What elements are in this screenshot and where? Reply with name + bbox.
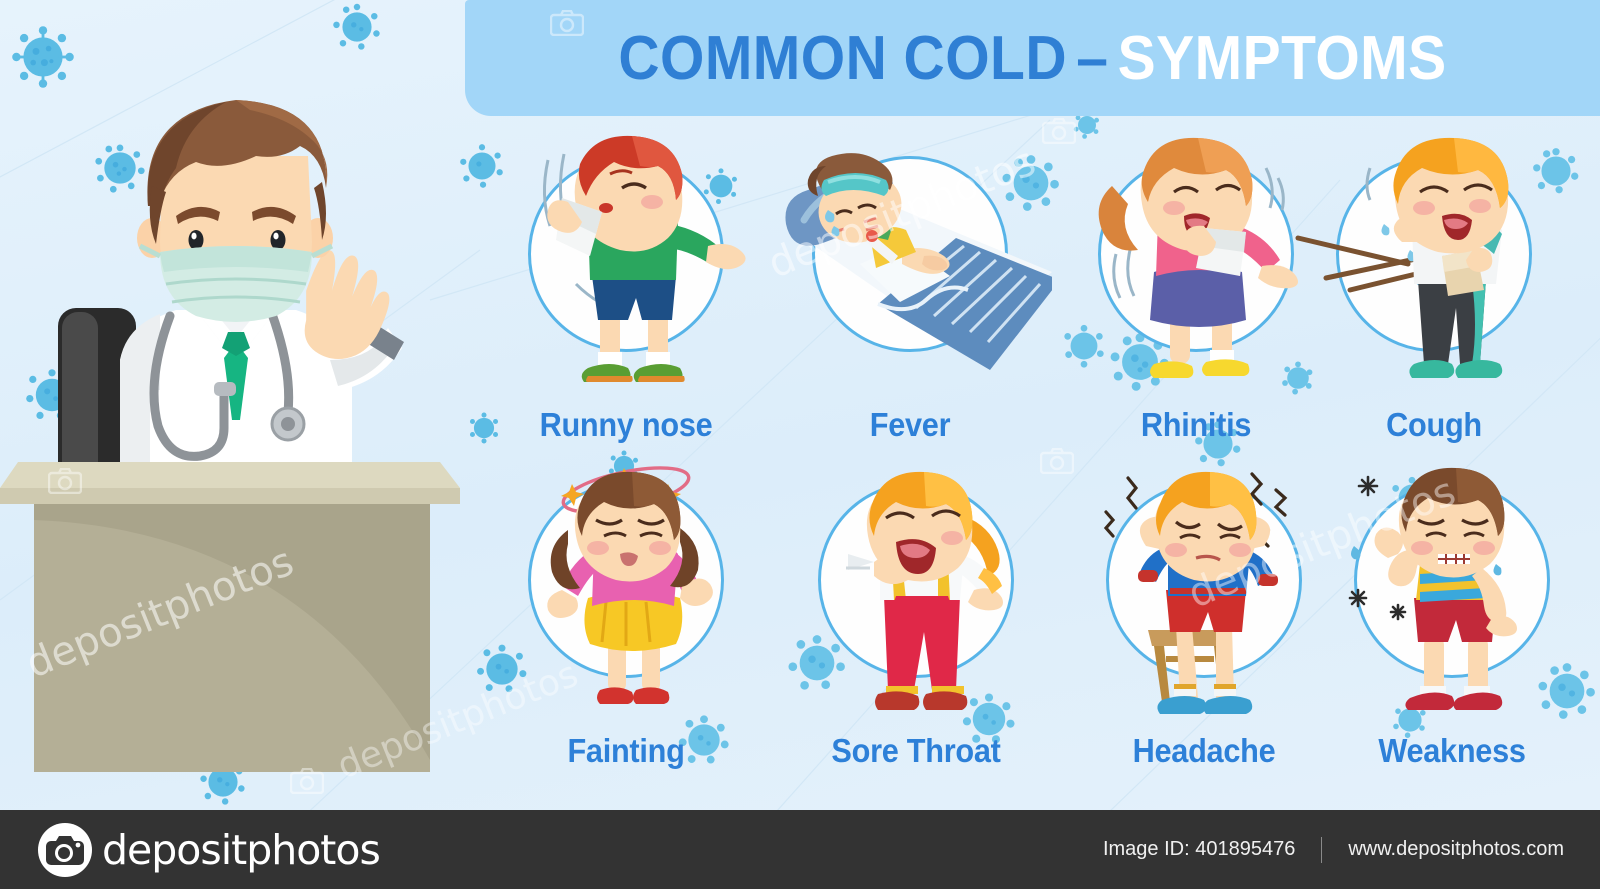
title-dash: –	[1076, 23, 1108, 94]
symptom-art	[484, 124, 768, 412]
girl-sore-throat-icon	[774, 450, 1058, 738]
depositphotos-logo[interactable]: depositphotos	[38, 823, 380, 877]
boy-headache-icon	[1062, 450, 1346, 738]
symptom-card-runny-nose[interactable]: Runny nose	[484, 124, 768, 454]
title-banner: COMMON COLD – SYMPTOMS	[465, 0, 1600, 116]
doctor-head	[137, 100, 333, 322]
symptom-card-headache[interactable]: Headache	[1062, 450, 1346, 780]
desk	[0, 462, 460, 772]
symptom-label: Sore Throat	[784, 732, 1048, 770]
symptom-art	[774, 450, 1058, 738]
symptom-label: Weakness	[1320, 732, 1584, 770]
symptom-label: Runny nose	[494, 406, 758, 444]
symptom-label: Fainting	[494, 732, 758, 770]
footer-bar: depositphotos Image ID: 401895476 www.de…	[0, 810, 1600, 889]
brand-name: depositphotos	[102, 826, 380, 874]
boy-weak-sweating-icon	[1310, 450, 1594, 738]
footer-divider	[1321, 837, 1322, 863]
page-title: COMMON COLD – SYMPTOMS	[510, 0, 1554, 116]
symptom-label: Fever	[778, 406, 1042, 444]
surgical-mask	[140, 246, 332, 322]
symptom-art	[1310, 450, 1594, 738]
symptom-art	[1292, 124, 1576, 412]
symptom-card-fever[interactable]: Fever	[768, 124, 1052, 454]
symptom-card-cough[interactable]: Cough	[1292, 124, 1576, 454]
symptom-grid: Runny nose	[462, 120, 1600, 780]
symptom-card-weakness[interactable]: Weakness	[1310, 450, 1594, 780]
image-id: Image ID: 401895476	[1103, 838, 1295, 861]
symptom-label: Cough	[1302, 406, 1566, 444]
title-sub: SYMPTOMS	[1118, 23, 1447, 94]
title-main: COMMON COLD	[618, 23, 1067, 94]
symptom-art	[484, 450, 768, 738]
boy-coughing-icon	[1292, 124, 1576, 412]
doctor-illustration	[0, 60, 470, 780]
website-link[interactable]: www.depositphotos.com	[1348, 838, 1564, 861]
girl-dizzy-icon	[484, 450, 768, 738]
symptom-label: Rhinitis	[1064, 406, 1328, 444]
virus-particle-icon	[330, 0, 384, 54]
boy-blowing-nose-icon	[484, 124, 768, 412]
boy-in-bed-with-fever-icon	[768, 124, 1052, 412]
camera-icon	[38, 823, 92, 877]
symptom-art	[1062, 450, 1346, 738]
symptom-art	[768, 124, 1052, 412]
symptom-label: Headache	[1072, 732, 1336, 770]
symptom-card-fainting[interactable]: Fainting	[484, 450, 768, 780]
footer-meta: Image ID: 401895476 www.depositphotos.co…	[1103, 837, 1564, 863]
infographic-page: COMMON COLD – SYMPTOMS	[0, 0, 1600, 889]
symptom-card-sore-throat[interactable]: Sore Throat	[774, 450, 1058, 780]
